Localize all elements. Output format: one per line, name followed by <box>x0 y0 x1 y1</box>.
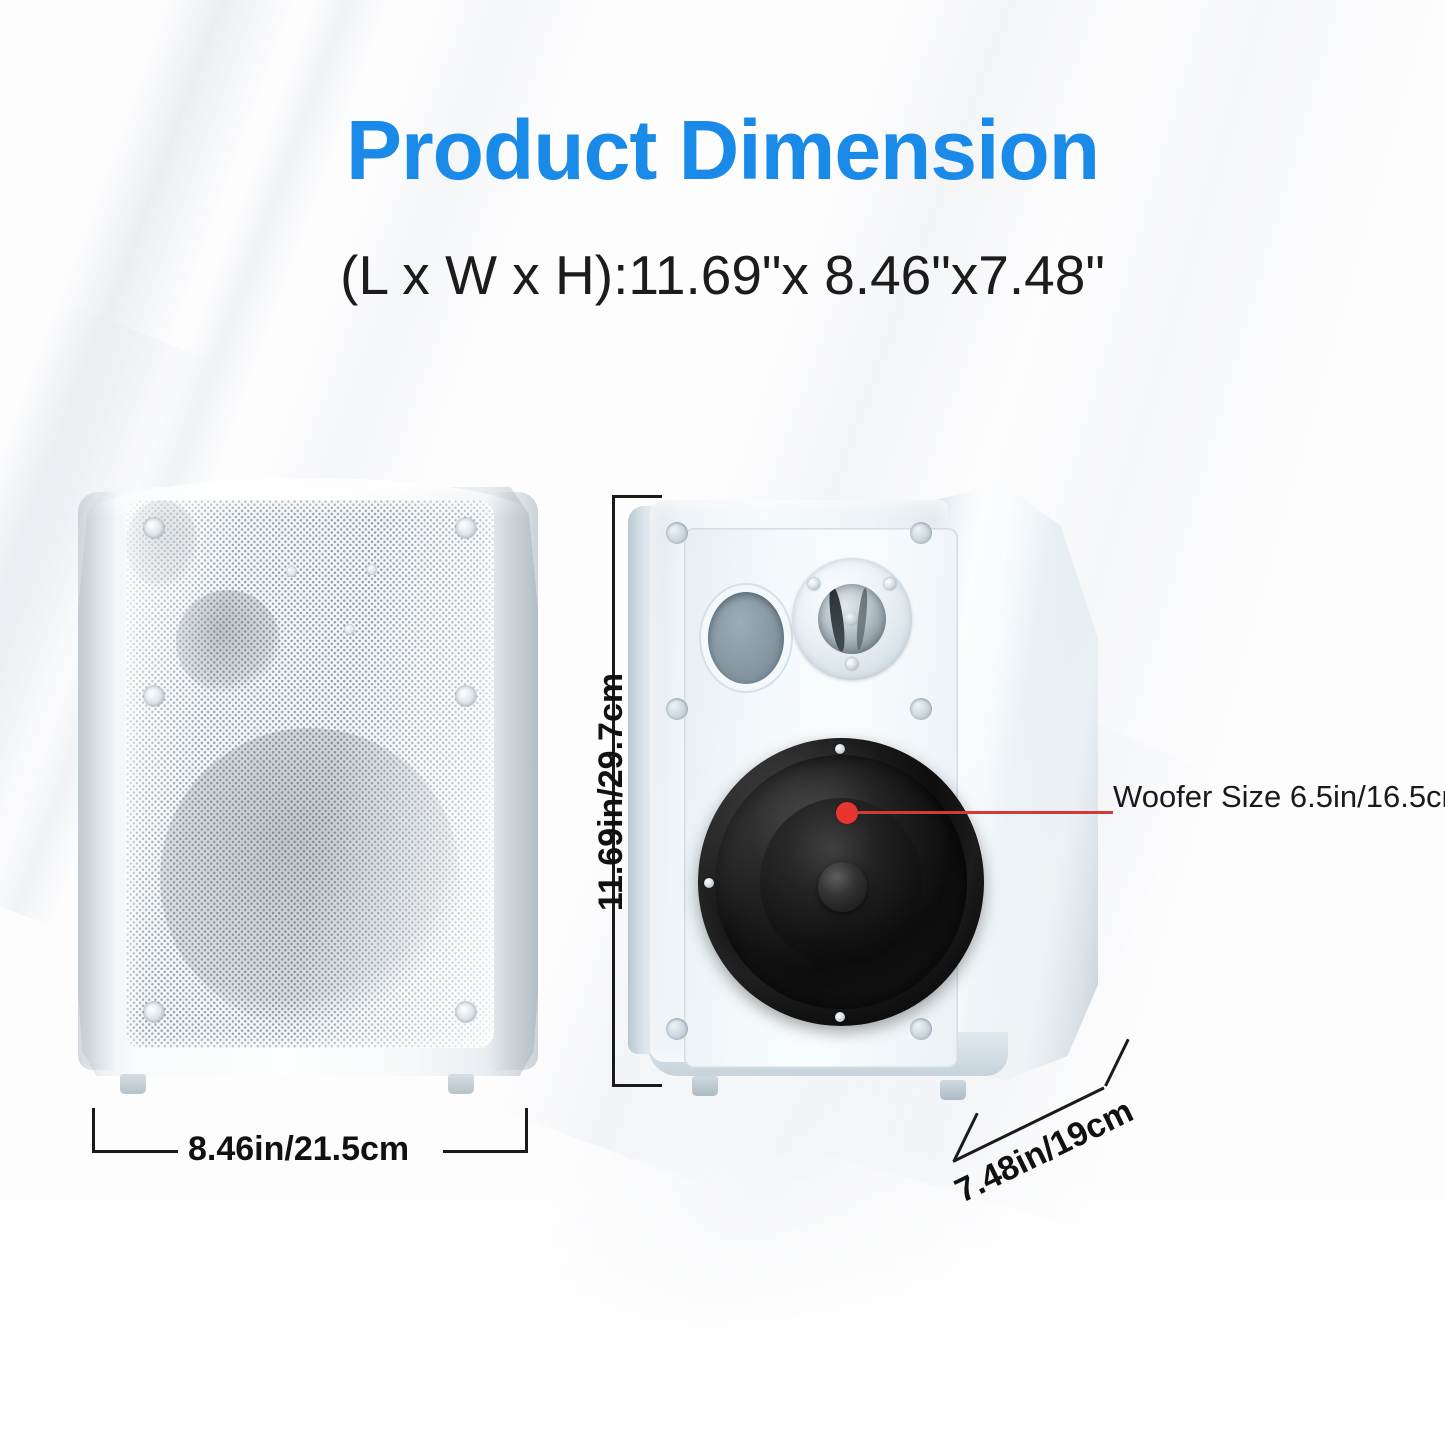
height-tick-bottom <box>612 1084 662 1087</box>
height-dimension-label: 11.69in/29.7cm <box>594 637 628 947</box>
woofer-dust-cap <box>818 862 866 912</box>
width-dimension-line-right <box>443 1150 528 1153</box>
woofer-screw <box>704 878 714 888</box>
width-tick-right <box>525 1108 528 1152</box>
callout-label: Woofer Size 6.5in/16.5cm <box>1113 781 1445 812</box>
width-tick-left <box>92 1108 95 1152</box>
tweeter-screw <box>808 578 820 590</box>
speaker-baffle <box>650 500 948 1062</box>
width-dimension-label: 8.46in/21.5cm <box>188 1132 409 1166</box>
bass-port <box>708 592 784 684</box>
grille-screw <box>144 686 164 706</box>
grille-screw <box>144 518 164 538</box>
baffle-screw <box>910 522 932 544</box>
tweeter-dome <box>844 612 858 626</box>
speaker-foot <box>692 1076 718 1096</box>
woofer-cone <box>760 798 921 965</box>
woofer-surround <box>715 755 967 1008</box>
woofer <box>698 738 984 1026</box>
grille-screw <box>456 518 476 538</box>
speaker-foot <box>448 1074 474 1094</box>
baffle-screw <box>666 698 688 720</box>
baffle-screw <box>666 522 688 544</box>
grille-small-screw <box>286 566 297 577</box>
speaker-front-with-grille <box>78 478 538 1098</box>
tweeter-screw <box>846 658 858 670</box>
woofer-silhouette <box>160 728 460 1028</box>
tweeter-silhouette <box>176 590 280 694</box>
baffle-screw <box>666 1018 688 1040</box>
grille-screw <box>456 1002 476 1022</box>
tweeter-screw <box>884 578 896 590</box>
page-title: Product Dimension <box>0 108 1445 192</box>
baffle-screw <box>910 1018 932 1040</box>
port-silhouette <box>126 500 198 588</box>
speaker-front-without-grille <box>628 484 1098 1104</box>
page-subtitle: (L x W x H):11.69"x 8.46"x7.48" <box>0 248 1445 303</box>
tweeter <box>792 558 912 680</box>
speaker-foot <box>940 1080 966 1100</box>
grille-small-screw <box>344 624 355 635</box>
speaker-grille <box>126 500 494 1048</box>
background-bottom-fade <box>0 1146 1445 1446</box>
cabinet-right-edge <box>490 492 538 1070</box>
cabinet-left-edge <box>78 492 116 1070</box>
infographic-canvas: Product Dimension (L x W x H):11.69"x 8.… <box>0 0 1445 1446</box>
callout-leader-line <box>855 811 1113 814</box>
height-tick-top <box>612 495 662 498</box>
baffle-screw <box>910 698 932 720</box>
grille-small-screw <box>366 564 377 575</box>
woofer-screw <box>835 744 845 754</box>
width-dimension-line-left <box>92 1150 178 1153</box>
grille-screw <box>144 1002 164 1022</box>
tweeter-horn <box>818 584 886 654</box>
woofer-screw <box>835 1012 845 1022</box>
speaker-foot <box>120 1074 146 1094</box>
speaker-cabinet <box>628 484 1098 1080</box>
grille-screw <box>456 686 476 706</box>
